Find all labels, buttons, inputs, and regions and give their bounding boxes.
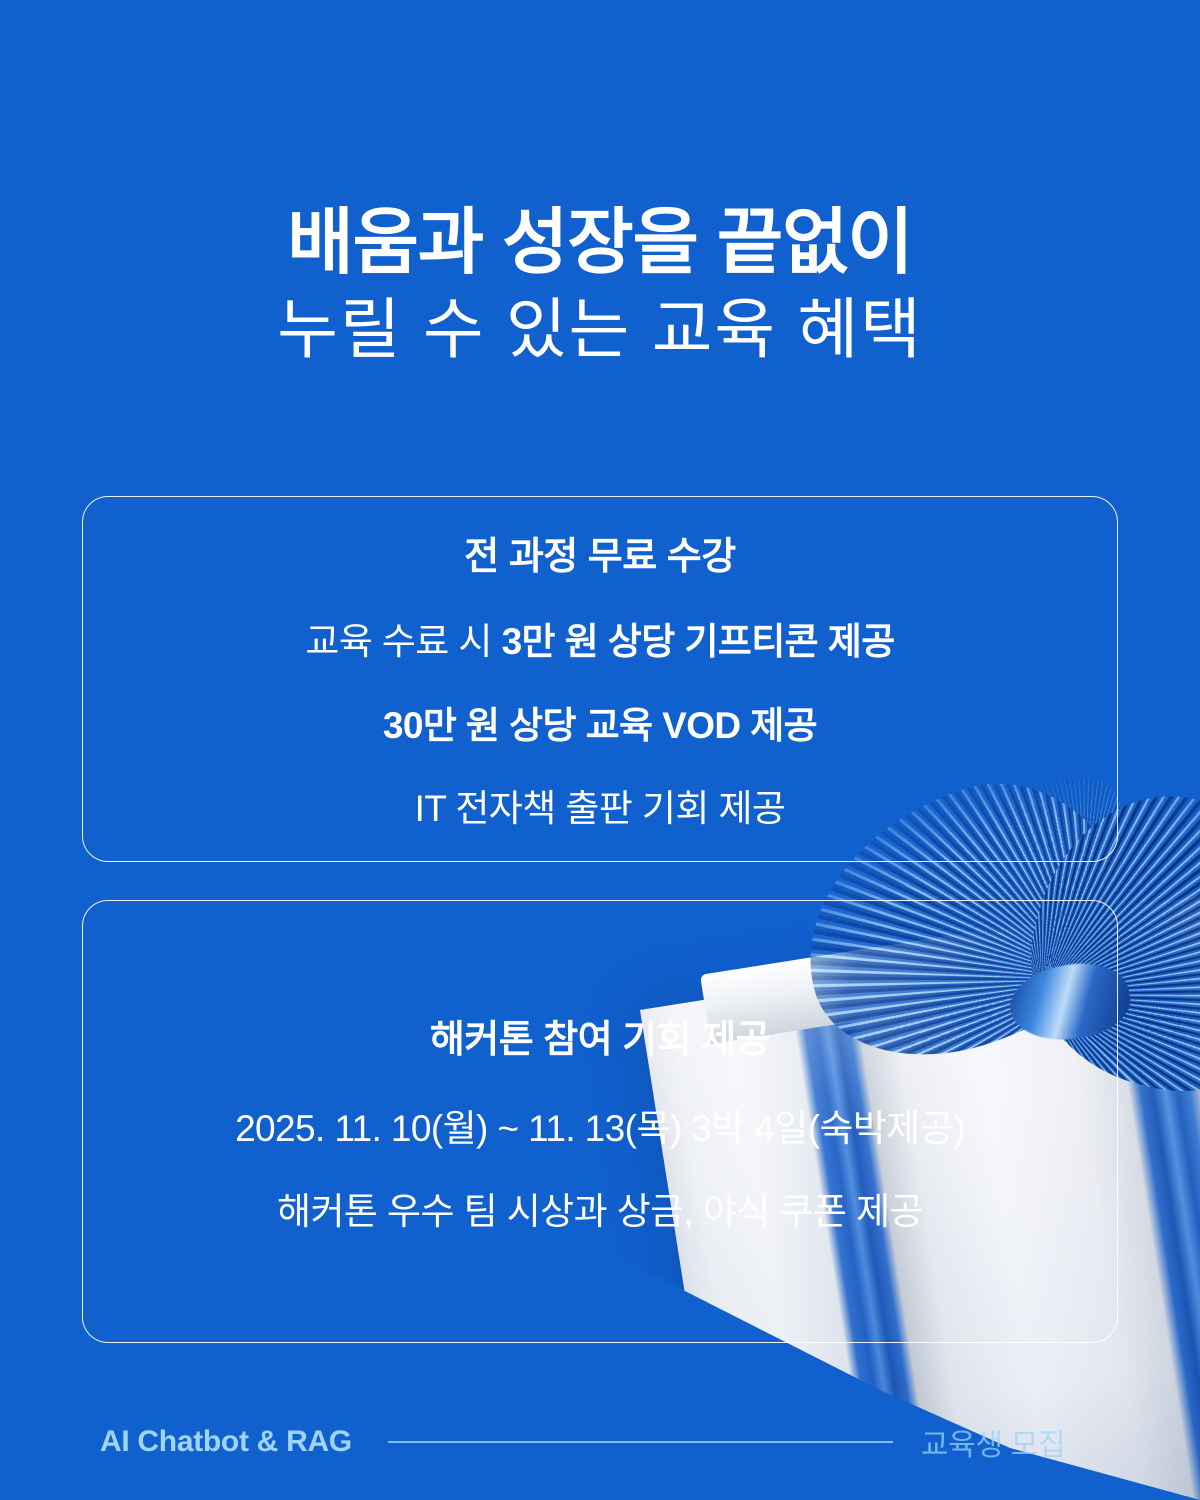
card-line-text: 해커톤 우수 팀 시상과 상금, 야식 쿠폰 제공	[277, 1191, 923, 1232]
card-title: 해커톤 참여 기회 제공	[430, 1008, 770, 1063]
card-line: IT 전자책 출판 기회 제공	[415, 785, 786, 832]
page-title: 배움과 성장을 끝없이 누릴 수 있는 교육 혜택	[0, 0, 1200, 365]
footer: AI Chatbot & RAG 교육생 모집	[0, 1412, 1200, 1472]
card-line: 교육 수료 시 3만 원 상당 기프티콘 제공	[305, 618, 894, 665]
card-line: 해커톤 우수 팀 시상과 상금, 야식 쿠폰 제공	[277, 1188, 923, 1235]
footer-divider	[388, 1441, 893, 1443]
card-line-text: 2025. 11. 10(월) ~ 11. 13(목) 3박 4일(숙박제공)	[235, 1108, 965, 1149]
benefits-card-courses: 전 과정 무료 수강 교육 수료 시 3만 원 상당 기프티콘 제공 30만 원…	[82, 496, 1118, 862]
card-line: 30만 원 상당 교육 VOD 제공	[383, 702, 817, 749]
footer-brand-label: AI Chatbot & RAG	[100, 1425, 352, 1459]
card-line-text: 교육 수료 시	[305, 621, 501, 662]
benefits-card-hackathon: 해커톤 참여 기회 제공 2025. 11. 10(월) ~ 11. 13(목)…	[82, 900, 1118, 1343]
poster-content: 배움과 성장을 끝없이 누릴 수 있는 교육 혜택 전 과정 무료 수강 교육 …	[0, 0, 1200, 1500]
card-line-emphasis: 30만 원 상당 교육 VOD 제공	[383, 705, 817, 746]
hero-headline-line-1: 배움과 성장을 끝없이	[0, 206, 1200, 281]
card-title: 전 과정 무료 수강	[464, 525, 735, 580]
footer-tagline: 교육생 모집	[921, 1420, 1066, 1464]
card-line-text: IT 전자책 출판 기회 제공	[415, 788, 786, 829]
card-line: 2025. 11. 10(월) ~ 11. 13(목) 3박 4일(숙박제공)	[235, 1105, 965, 1152]
hero-headline-line-2: 누릴 수 있는 교육 혜택	[0, 295, 1200, 365]
card-line-emphasis: 3만 원 상당 기프티콘 제공	[502, 621, 895, 662]
